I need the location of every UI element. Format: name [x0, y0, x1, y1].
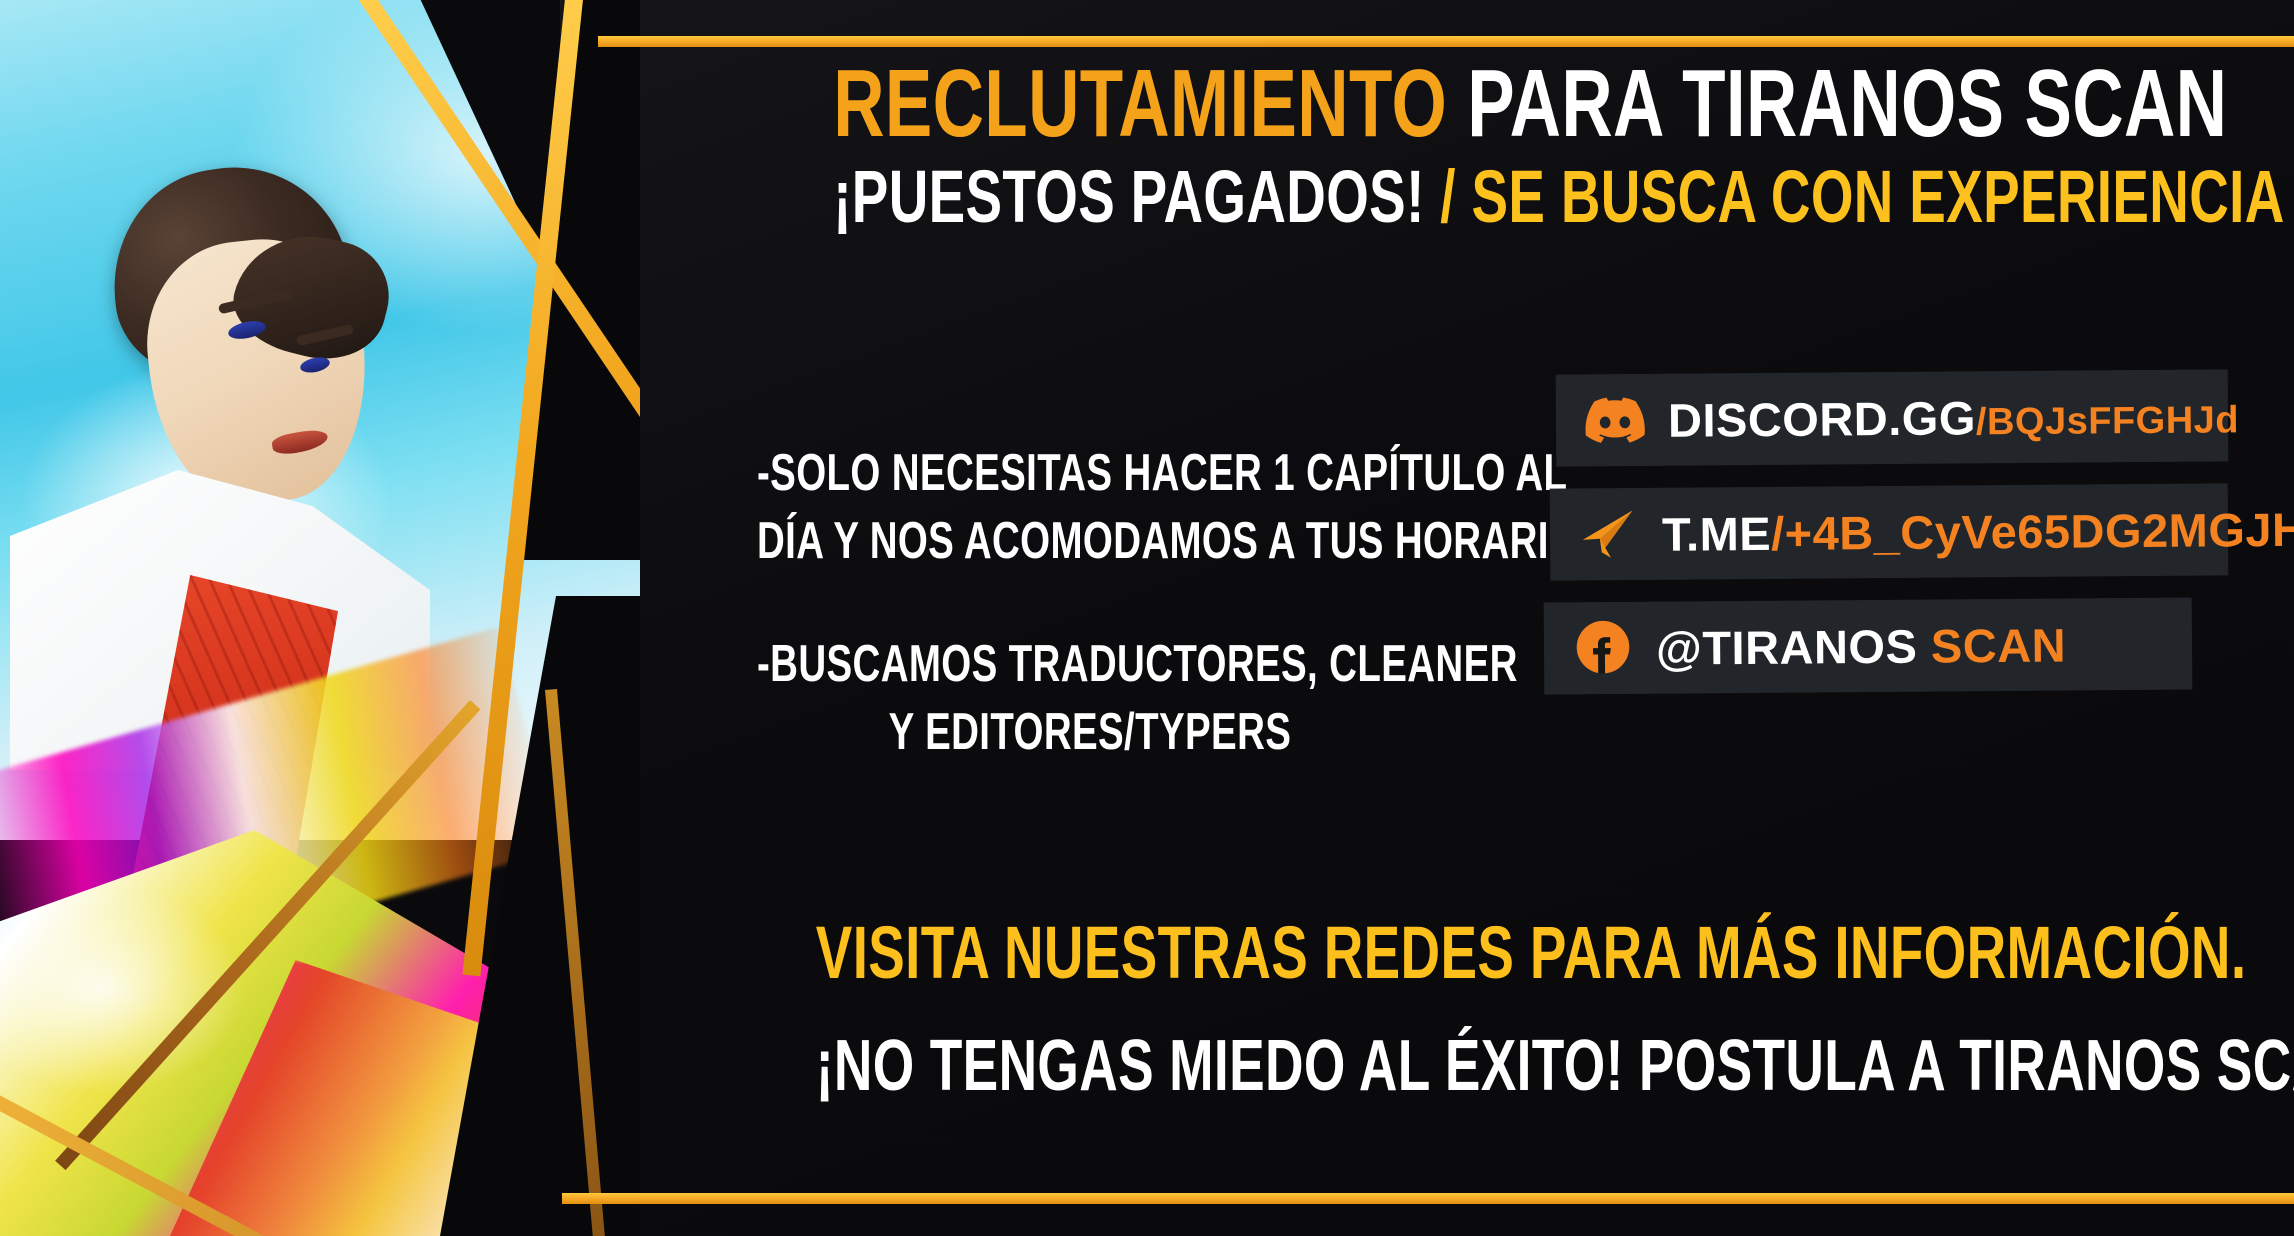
bullet-schedule-line1: -SOLO NECESITAS HACER 1 CAPÍTULO AL: [757, 440, 1423, 508]
headline-highlight: RECLUTAMIENTO: [833, 50, 1447, 157]
recruitment-banner: RECLUTAMIENTO PARA TIRANOS SCAN ¡PUESTOS…: [0, 0, 2294, 1236]
telegram-link-text: T.ME/+4B_CyVe65DG2MGJH: [1662, 501, 2294, 561]
facebook-handle-suffix: SCAN: [1917, 618, 2066, 672]
artwork-panel: [0, 0, 640, 1236]
discord-invite-code: /BQJsFFGHJd: [1976, 399, 2239, 443]
gold-rule-top: [598, 36, 2294, 47]
cta-line-1: VISITA NUESTRAS REDES PARA MÁS INFORMACI…: [816, 916, 2044, 990]
headline-rest: PARA TIRANOS SCAN: [1447, 50, 2227, 157]
bullet-schedule-line2: DÍA Y NOS ACOMODAMOS A TUS HORARIOS: [757, 508, 1423, 576]
bullet-item-schedule: -SOLO NECESITAS HACER 1 CAPÍTULO AL DÍA …: [640, 440, 1540, 575]
bullet-roles-line2: Y EDITORES/TYPERS: [757, 699, 1423, 767]
facebook-icon: [1572, 617, 1634, 679]
call-to-action: VISITA NUESTRAS REDES PARA MÁS INFORMACI…: [600, 916, 2260, 1102]
bullet-list: -SOLO NECESITAS HACER 1 CAPÍTULO AL DÍA …: [640, 440, 1540, 822]
contact-card-list: DISCORD.GG/BQJsFFGHJd T.ME/+4B_CyVe65DG2…: [1556, 372, 2256, 714]
facebook-handle: @TIRANOS: [1656, 619, 1918, 674]
contact-card-discord[interactable]: DISCORD.GG/BQJsFFGHJd: [1556, 369, 2229, 466]
bullet-item-roles: -BUSCAMOS TRADUCTORES, CLEANER Y EDITORE…: [640, 631, 1540, 766]
contact-card-facebook[interactable]: @TIRANOS SCAN: [1544, 597, 2193, 694]
gold-rule-bottom: [562, 1193, 2294, 1204]
subheadline-experience: / SE BUSCA CON EXPERIENCIA: [1425, 155, 2285, 238]
telegram-invite-code: /+4B_CyVe65DG2MGJH: [1771, 502, 2294, 559]
discord-icon: [1584, 389, 1646, 451]
discord-domain: DISCORD.GG: [1668, 391, 1976, 446]
discord-link-text: DISCORD.GG/BQJsFFGHJd: [1668, 388, 2239, 447]
contact-card-telegram[interactable]: T.ME/+4B_CyVe65DG2MGJH: [1550, 483, 2229, 580]
bullet-roles-line1: -BUSCAMOS TRADUCTORES, CLEANER: [757, 631, 1423, 699]
telegram-domain: T.ME: [1662, 506, 1771, 560]
facebook-handle-text: @TIRANOS SCAN: [1656, 617, 2066, 675]
cta-line-2: ¡NO TENGAS MIEDO AL ÉXITO! POSTULA A TIR…: [816, 1030, 2044, 1102]
telegram-icon: [1578, 503, 1640, 565]
subheadline-paid: ¡PUESTOS PAGADOS!: [833, 155, 1424, 238]
headline: RECLUTAMIENTO PARA TIRANOS SCAN: [620, 56, 2260, 152]
subheadline: ¡PUESTOS PAGADOS! / SE BUSCA CON EXPERIE…: [620, 160, 2260, 234]
